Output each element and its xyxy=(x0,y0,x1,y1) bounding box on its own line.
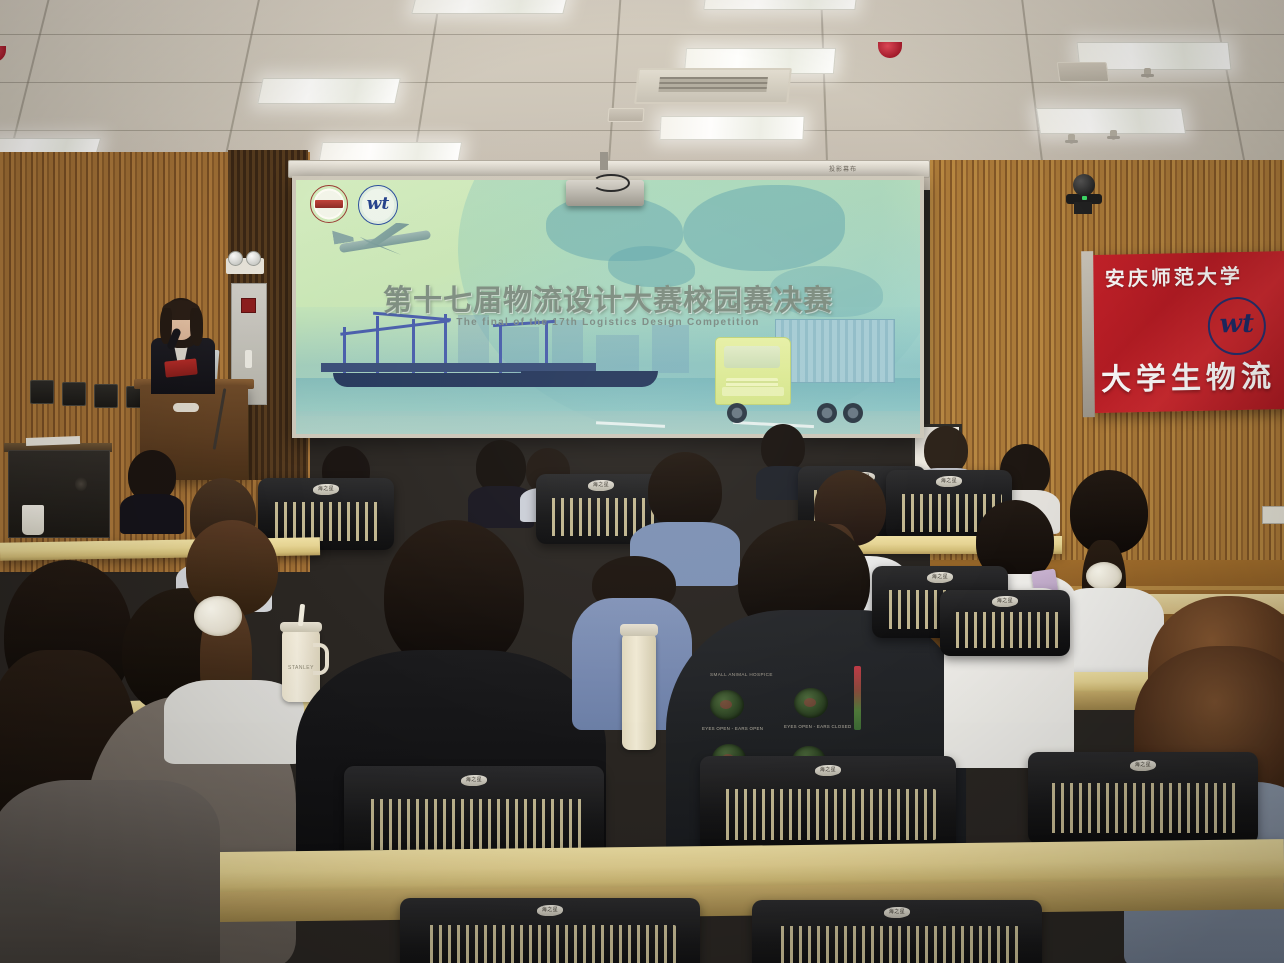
person-head xyxy=(924,426,968,474)
wall-outlet-plate xyxy=(62,382,86,406)
camera-mount-arm xyxy=(1074,202,1092,214)
wall-outlet-plate xyxy=(30,380,54,404)
emergency-lamp-icon xyxy=(228,251,243,266)
presenter xyxy=(147,298,219,390)
brain-graphic-icon xyxy=(710,690,744,720)
ceiling-light-panel xyxy=(659,116,804,140)
lecture-hall-photo: 投影幕布 xyxy=(0,0,1284,963)
emergency-lamp-icon xyxy=(246,251,261,266)
chair[interactable]: 海之星 xyxy=(1028,752,1258,844)
person-head xyxy=(761,424,805,472)
chair-badge: 海之星 xyxy=(936,476,962,487)
slide-title: 第十七届物流设计大赛校园赛决赛 xyxy=(296,277,920,319)
emergency-light xyxy=(226,258,264,274)
ceiling-ac-vent xyxy=(634,68,792,104)
ceiling-light-panel xyxy=(257,78,401,104)
projector-cable xyxy=(592,174,630,192)
red-folder xyxy=(164,358,197,377)
tee-color-bar xyxy=(854,666,861,730)
chair[interactable]: 海之星 xyxy=(940,590,1070,656)
sprinkler-head xyxy=(1110,130,1117,140)
ceiling-air-diffuser xyxy=(608,108,645,122)
audience-member xyxy=(0,780,220,963)
chair-badge: 海之星 xyxy=(588,480,614,491)
control-indicator-icon xyxy=(241,298,256,313)
tee-caption: EYES OPEN - EARS CLOSED xyxy=(784,724,851,729)
chair[interactable]: 海之星 xyxy=(700,756,956,852)
ceiling-air-diffuser xyxy=(1057,62,1110,82)
podium-badge xyxy=(173,403,199,412)
ptz-camera xyxy=(1062,172,1106,212)
chair-badge: 海之星 xyxy=(313,484,339,495)
university-seal-logo xyxy=(310,185,348,223)
audience-member xyxy=(120,450,184,520)
chair[interactable]: 海之星 xyxy=(400,898,700,963)
tee-caption: EYES OPEN - EARS OPEN xyxy=(702,726,763,731)
red-banner: 安庆师范大学 大学生物流 xyxy=(1090,251,1284,413)
ceiling-projector xyxy=(566,168,644,200)
person-torso xyxy=(0,780,220,963)
sprinkler-head xyxy=(1144,68,1151,78)
ceiling-light-panel xyxy=(703,0,858,10)
brain-graphic-icon xyxy=(794,688,828,718)
banner-seal-logo xyxy=(1207,296,1266,355)
chair-badge: 海之星 xyxy=(461,775,487,786)
bottle-cap xyxy=(620,624,658,636)
sprinkler-head xyxy=(1068,134,1075,144)
banner-event-name: 大学生物流 xyxy=(1100,351,1284,399)
speaker-knob-icon xyxy=(75,477,87,491)
hair-scrunchie xyxy=(194,596,242,636)
cargo-truck-graphic xyxy=(705,319,895,423)
competition-wt-logo xyxy=(358,185,398,225)
tee-title-text: SMALL ANIMAL HOSPICE xyxy=(710,672,773,677)
banner-university-name: 安庆师范大学 xyxy=(1105,259,1284,292)
slide-subtitle: The final of the 17th Logistics Design C… xyxy=(296,317,920,328)
hair-scrunchie xyxy=(1086,562,1122,590)
presenter-hair-side xyxy=(190,308,203,346)
chair-badge: 海之星 xyxy=(1130,760,1156,771)
ceiling-light-panel xyxy=(411,0,570,14)
paper-cup xyxy=(22,505,44,535)
chair-badge: 海之星 xyxy=(884,907,910,918)
projection-screen: 第十七届物流设计大赛校园赛决赛 The final of the 17th Lo… xyxy=(292,176,924,438)
person-head xyxy=(648,452,722,530)
control-switch-icon[interactable] xyxy=(245,350,252,368)
chair-badge: 海之星 xyxy=(992,596,1018,607)
camera-lens-icon xyxy=(1073,174,1095,196)
skyline-graphic xyxy=(652,325,689,373)
airplane-graphic xyxy=(333,221,437,261)
ship-graphic xyxy=(521,371,658,387)
chair-badge: 海之星 xyxy=(537,905,563,916)
chair-badge: 海之星 xyxy=(815,765,841,776)
chair[interactable]: 海之星 xyxy=(752,900,1042,963)
skyline-graphic xyxy=(596,335,640,373)
chair-badge: 海之星 xyxy=(927,572,953,583)
camera-status-led xyxy=(1082,196,1087,200)
slide-content: 第十七届物流设计大赛校园赛决赛 The final of the 17th Lo… xyxy=(296,180,920,434)
projector-mount xyxy=(600,152,608,170)
thermos-bottle xyxy=(622,634,656,750)
wall-outlet-plate xyxy=(94,384,118,408)
housing-label: 投影幕布 xyxy=(829,164,857,173)
wall-sign-plate xyxy=(1262,506,1284,524)
